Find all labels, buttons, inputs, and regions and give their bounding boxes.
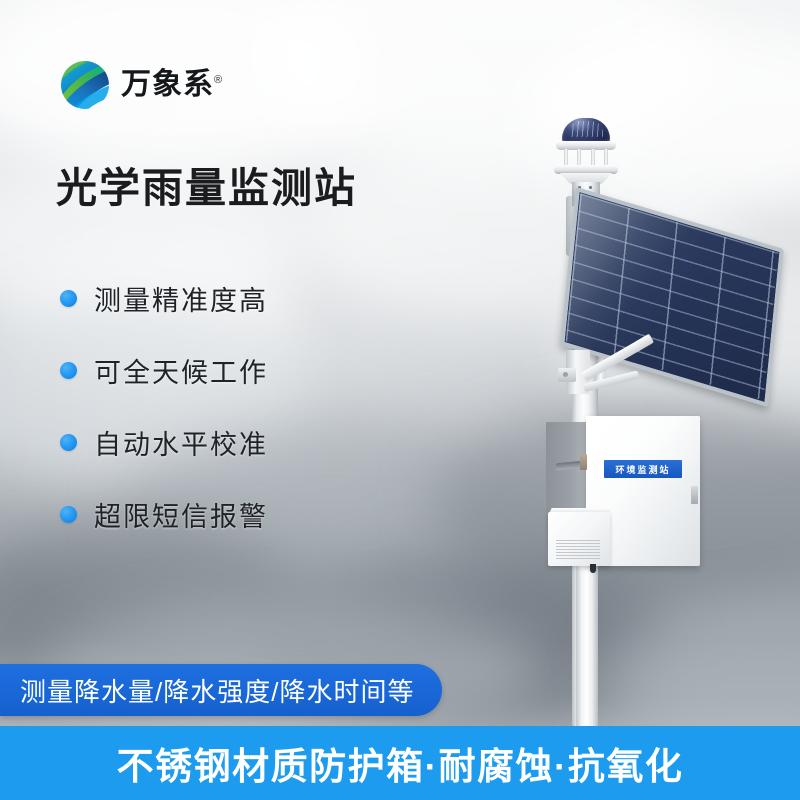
globe-swirl-logo-icon <box>58 58 112 112</box>
feature-label: 超限短信报警 <box>94 495 268 534</box>
feature-label: 测量精准度高 <box>94 279 268 318</box>
registered-mark: ® <box>214 74 223 86</box>
feature-label: 可全天候工作 <box>94 351 268 390</box>
brand-name: 万象系 <box>121 68 214 101</box>
bottom-banner: 不锈钢材质防护箱·耐腐蚀·抗氧化 <box>0 726 800 800</box>
page-title: 光学雨量监测站 <box>56 166 357 211</box>
list-item: 超限短信报警 <box>60 478 390 550</box>
list-item: 自动水平校准 <box>60 406 390 478</box>
blue-dot-icon <box>60 434 77 451</box>
blue-dot-icon <box>60 506 77 523</box>
pill-banner: 测量降水量/降水强度/降水时间等 <box>0 664 442 716</box>
list-item: 测量精准度高 <box>60 262 390 334</box>
blue-dot-icon <box>60 290 77 307</box>
list-item: 可全天候工作 <box>60 334 390 406</box>
brand-logo: 万象系® <box>58 58 223 112</box>
bottom-banner-text: 不锈钢材质防护箱·耐腐蚀·抗氧化 <box>117 736 684 790</box>
brand-name-wrap: 万象系® <box>121 70 223 100</box>
product-poster: 环境监测站 <box>0 0 800 800</box>
feature-list: 测量精准度高 可全天候工作 自动水平校准 超限短信报警 <box>60 262 390 550</box>
feature-label: 自动水平校准 <box>94 423 268 462</box>
pill-banner-text: 测量降水量/降水强度/降水时间等 <box>20 672 414 709</box>
blue-dot-icon <box>60 362 77 379</box>
